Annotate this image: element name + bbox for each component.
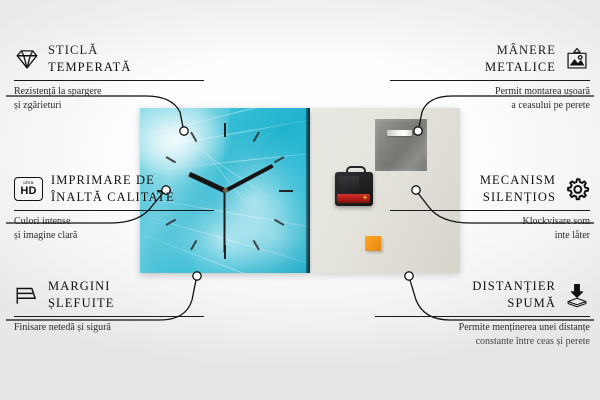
diamond-icon: [14, 46, 40, 72]
callout-title: DISTANȚIER SPUMĂ: [472, 278, 556, 312]
callout-rule: [14, 210, 214, 211]
callout-rule: [390, 210, 590, 211]
callout-header: MÂNERE METALICE: [390, 42, 590, 76]
battery: +: [337, 194, 370, 203]
callout-rule: [14, 80, 204, 81]
callout-rule: [390, 80, 590, 81]
callout-silent-mechanism: MECANISM SILENȚIOS Klockvisare som inte …: [390, 172, 590, 243]
callout-title: MECANISM SILENȚIOS: [480, 172, 556, 206]
callout-subtitle: Klockvisare som inte låter: [390, 215, 590, 243]
callout-header: DISTANȚIER SPUMĂ: [375, 278, 590, 312]
callout-foam-spacer: DISTANȚIER SPUMĂ Permite menținerea unei…: [375, 278, 590, 349]
metal-hanger-plate: [375, 119, 427, 171]
callout-polished-edges: MARGINI ȘLEFUITE Finisare netedă și sigu…: [14, 278, 204, 335]
callout-header: MARGINI ȘLEFUITE: [14, 278, 204, 312]
callout-rule: [375, 316, 590, 317]
polished-edges-icon: [14, 282, 40, 308]
callout-header: MECANISM SILENȚIOS: [390, 172, 590, 206]
clock-tick: [224, 123, 226, 191]
hanger-slot: [387, 130, 412, 136]
callout-high-quality-print: ultra HD IMPRIMARE DE ÎNALTĂ CALITATE Cu…: [14, 172, 214, 243]
callout-tempered-glass: STICLĂ TEMPERATĂ Rezistență la spargere …: [14, 42, 204, 113]
callout-header: ultra HD IMPRIMARE DE ÎNALTĂ CALITATE: [14, 172, 214, 206]
callout-title: IMPRIMARE DE ÎNALTĂ CALITATE: [51, 172, 175, 206]
callout-subtitle: Permit montarea ușoară a ceasului pe per…: [390, 85, 590, 113]
callout-subtitle: Finisare netedă și sigură: [14, 321, 204, 335]
badge-hd-label: HD: [20, 186, 36, 197]
callout-title: STICLĂ TEMPERATĂ: [48, 42, 132, 76]
mechanism-body: +: [335, 172, 373, 206]
battery-plus-icon: +: [362, 195, 368, 201]
clock-center-cap: [223, 188, 228, 193]
callout-subtitle: Culori intense și imagine clară: [14, 215, 214, 243]
callout-metal-handles: MÂNERE METALICE Permit montarea ușoară a…: [390, 42, 590, 113]
callout-title: MARGINI ȘLEFUITE: [48, 278, 114, 312]
glass-edge: [306, 108, 310, 273]
clock-tick: [225, 190, 293, 192]
product-infographic: +: [0, 0, 600, 400]
gear-icon: [564, 176, 590, 202]
foam-spacer-arrow-icon: [564, 282, 590, 308]
callout-subtitle: Rezistență la spargere și zgârieturi: [14, 85, 204, 113]
ultra-hd-badge-icon: ultra HD: [14, 177, 43, 201]
foam-spacer: [365, 236, 381, 251]
clock-mechanism: +: [335, 166, 373, 206]
callout-rule: [14, 316, 204, 317]
callout-header: STICLĂ TEMPERATĂ: [14, 42, 204, 76]
picture-frame-hanger-icon: [564, 46, 590, 72]
callout-subtitle: Permite menținerea unei distanțe constan…: [375, 321, 590, 349]
mechanism-label: [339, 176, 359, 190]
callout-title: MÂNERE METALICE: [485, 42, 556, 76]
